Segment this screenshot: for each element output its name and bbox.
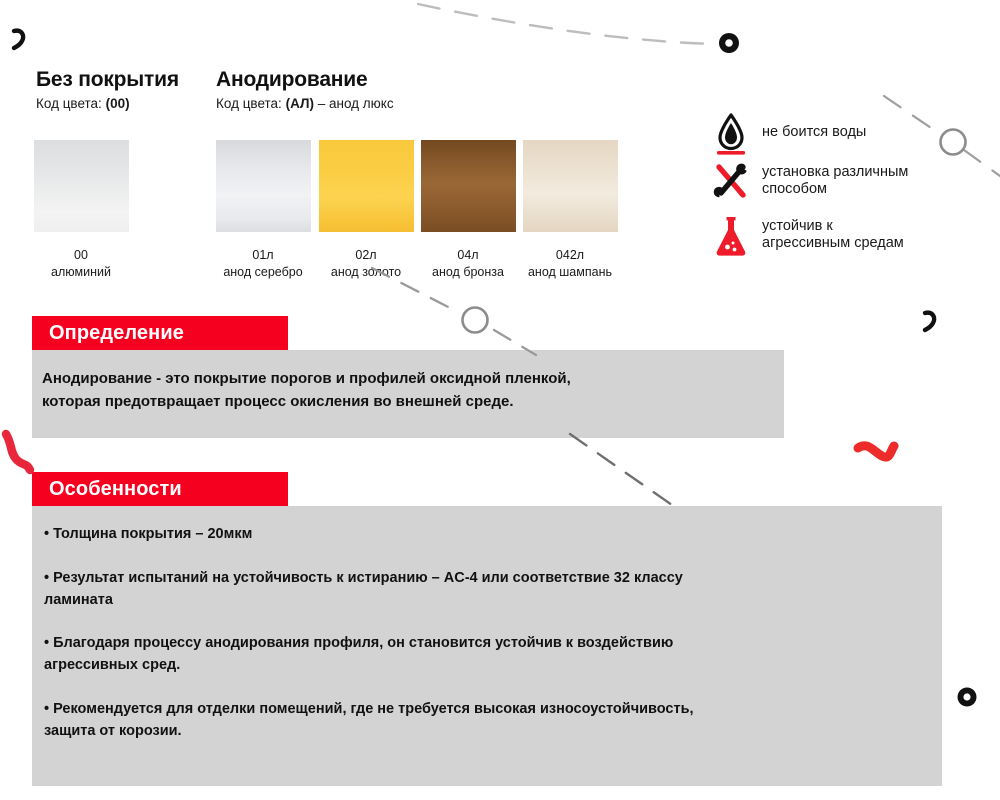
group-code-line: Код цвета: (00) [36,96,179,111]
features-list: • Толщина покрытия – 20мкм • Результат и… [44,524,934,742]
ring-gray-center-icon [463,308,488,333]
group-code-label: Код цвета: [216,96,282,111]
features-tab: Особенности [32,472,288,506]
legend-label: установка различным способом [762,164,908,198]
swatch-name: анод серебро [203,264,323,281]
group-code-value: (00) [106,96,130,111]
color-swatch-01l[interactable] [216,140,311,232]
poster-page: Без покрытия Код цвета: (00) Анодировани… [0,0,1000,800]
dashed-line-top [418,4,716,44]
features-tab-label: Особенности [49,478,182,501]
group-code-label: Код цвета: [36,96,102,111]
swatch-caption-00: 00 алюминий [21,247,141,280]
group-code-line: Код цвета: (АЛ) – анод люкс [216,96,394,111]
definition-tab-label: Определение [49,322,184,345]
swatch-caption-01l: 01л анод серебро [203,247,323,280]
group-code-value: (АЛ) [286,96,314,111]
swatch-name: алюминий [21,264,141,281]
legend-row-chemical-resistant: устойчив к агрессивным средам [708,212,904,258]
swatch-name: анод шампань [510,264,630,281]
definition-text-wrap: Анодирование - это покрытие порогов и пр… [42,368,778,414]
group-title: Анодирование [216,68,394,91]
feature-item-chemical: • Благодаря процессу анодирования профил… [44,633,934,677]
squiggle-right-icon [858,446,894,457]
swatch-code: 042л [510,247,630,264]
legend-label: устойчив к агрессивным средам [762,218,904,252]
color-swatch-042l[interactable] [523,140,618,232]
legend-row-waterproof: не боится воды [708,110,866,156]
feature-item-thickness: • Толщина покрытия – 20мкм [44,524,934,546]
definition-tab: Определение [32,316,288,350]
legend-label: не боится воды [762,124,866,141]
color-swatch-00[interactable] [34,140,129,232]
ring-black-bottom-right-icon [958,688,977,707]
feature-item-recommendation: • Рекомендуется для отделки помещений, г… [44,699,934,743]
ring-gray-right-icon [941,130,966,155]
color-swatch-04l[interactable] [421,140,516,232]
group-title: Без покрытия [36,68,179,91]
feature-item-abrasion: • Результат испытаний на устойчивость к … [44,568,934,612]
flask-icon [708,212,754,258]
comma-mark-top-left-icon [14,31,23,48]
color-swatch-02l[interactable] [319,140,414,232]
group-code-suffix: – анод люкс [314,96,394,111]
tools-icon [708,158,754,204]
water-drop-icon [708,110,754,156]
legend-row-installation: установка различным способом [708,158,908,204]
swatch-caption-042l: 042л анод шампань [510,247,630,280]
swatch-code: 00 [21,247,141,264]
dashed-line-diagonal-3 [570,434,672,505]
comma-mark-mid-right-icon [925,313,934,330]
group-heading-uncoated: Без покрытия Код цвета: (00) [36,68,179,111]
group-heading-anodized: Анодирование Код цвета: (АЛ) – анод люкс [216,68,394,111]
squiggle-left-icon [6,434,30,470]
definition-text: Анодирование - это покрытие порогов и пр… [42,368,778,414]
ring-black-top-icon [719,33,739,53]
swatch-code: 01л [203,247,323,264]
